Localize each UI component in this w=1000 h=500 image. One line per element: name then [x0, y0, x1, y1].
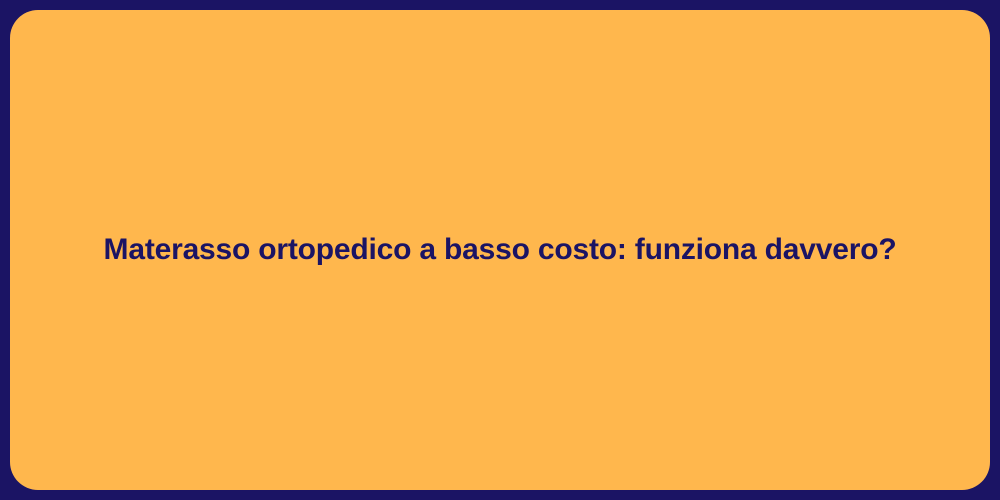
page-title: Materasso ortopedico a basso costo: funz…: [10, 232, 990, 268]
card-panel: Materasso ortopedico a basso costo: funz…: [10, 10, 990, 490]
card-border-frame: Materasso ortopedico a basso costo: funz…: [0, 0, 1000, 500]
